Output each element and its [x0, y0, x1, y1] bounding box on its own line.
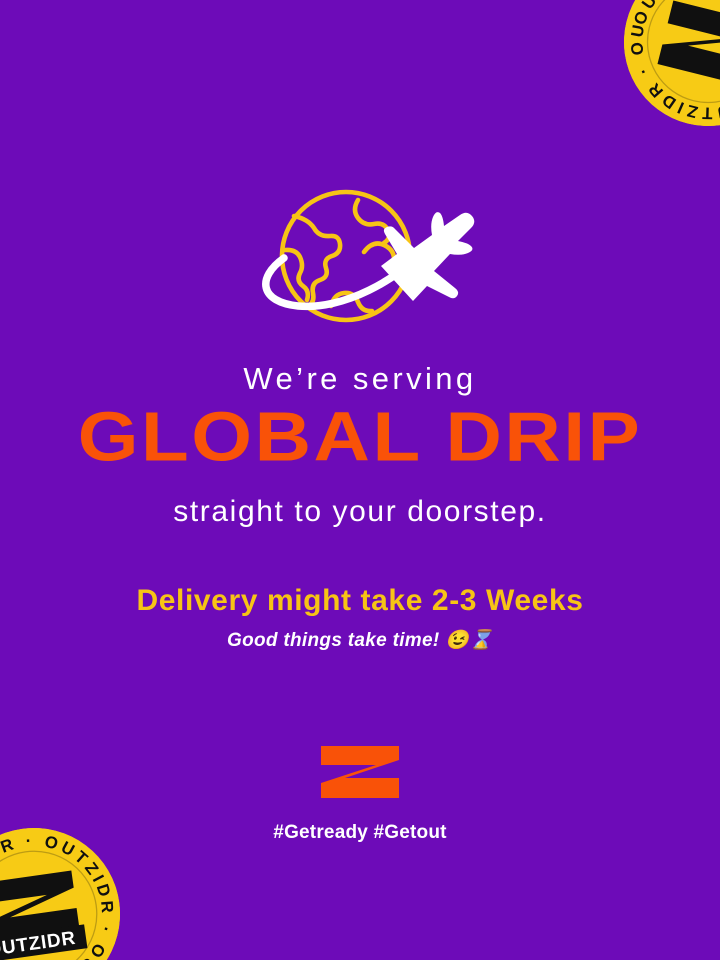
globe-with-airplane-illustration: [238, 178, 488, 343]
page-title: GLOBAL DRIP: [0, 404, 720, 473]
airplane-icon: [381, 212, 474, 301]
z-monogram-icon: [319, 744, 401, 800]
poster-copy-block: We’re serving GLOBAL DRIP straight to yo…: [0, 362, 720, 652]
eyebrow-text: We’re serving: [0, 362, 720, 395]
delivery-note: Delivery might take 2-3 Weeks: [0, 584, 720, 617]
subline-text: straight to your doorstep.: [0, 495, 720, 528]
tagline-text: Good things take time! 😉⌛: [0, 631, 720, 652]
promo-poster: We’re serving GLOBAL DRIP straight to yo…: [0, 0, 720, 960]
outzidr-badge-top-right: OUTZIDR · OUTZIDR · OUTZIDR · OUTZIDR ·: [606, 0, 720, 144]
